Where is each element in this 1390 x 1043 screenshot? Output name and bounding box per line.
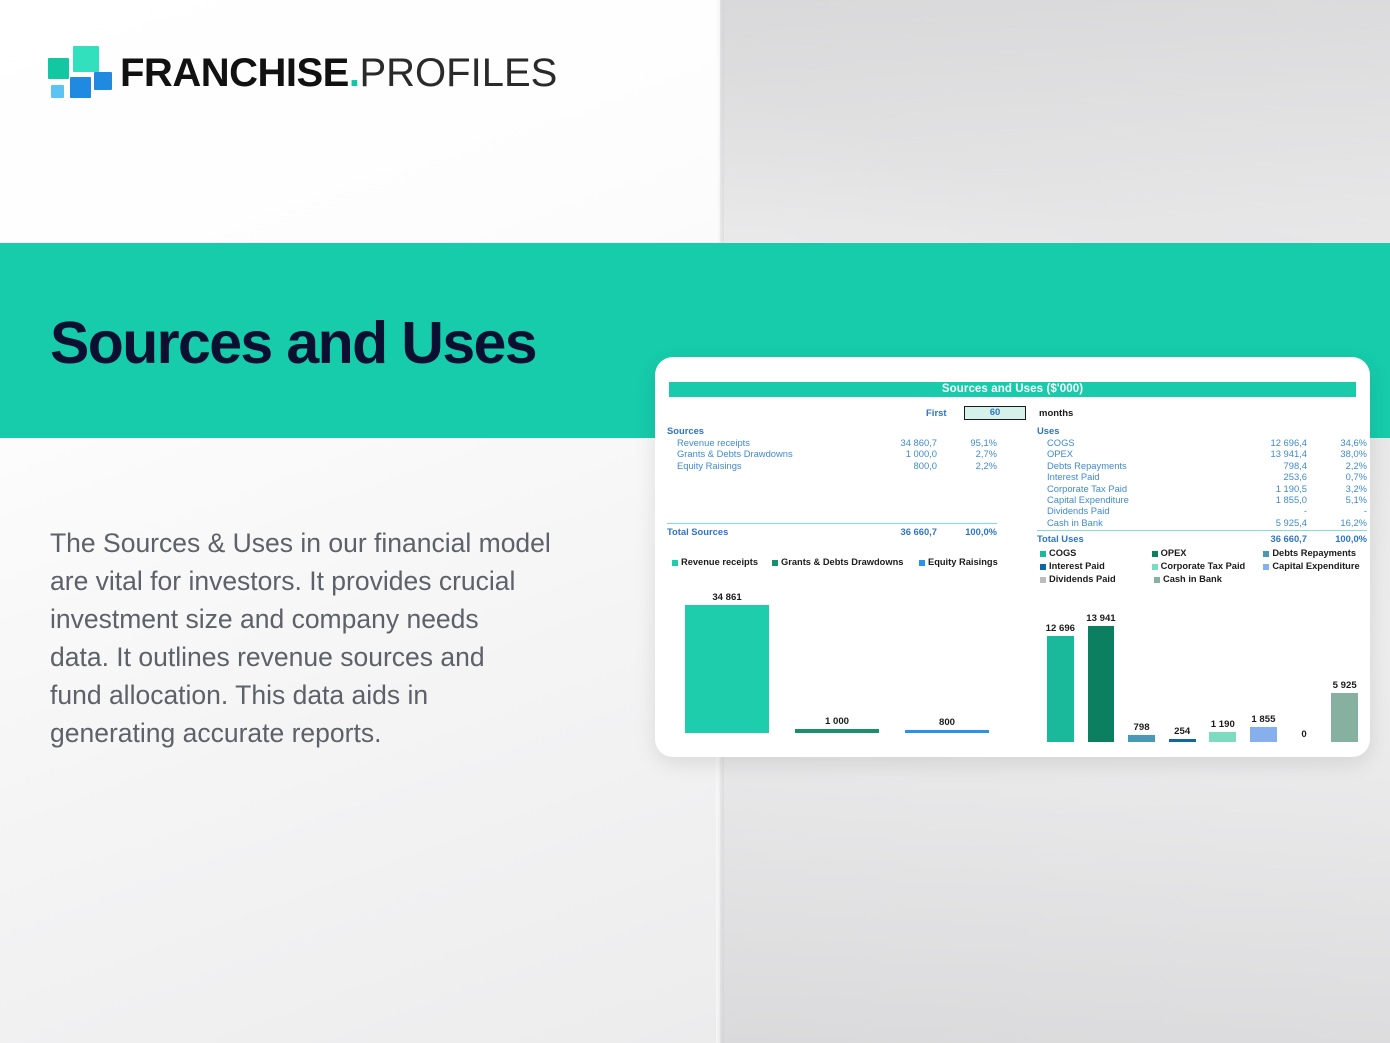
- logo-squares-icon: [48, 46, 106, 98]
- legend-label: Cash in Bank: [1163, 573, 1222, 586]
- sources-table-header: Sources: [667, 425, 997, 437]
- legend-item[interactable]: COGS: [1040, 547, 1152, 560]
- legend-item[interactable]: Equity Raisings: [919, 556, 998, 569]
- uses-row-name: Dividends Paid: [1037, 505, 1229, 516]
- legend-row: Revenue receiptsGrants & Debts Drawdowns…: [672, 556, 1012, 569]
- chart-bar-slot: 798: [1121, 592, 1162, 742]
- uses-row-name: COGS: [1037, 437, 1229, 448]
- sources-table: Sources Revenue receipts34 860,795,1%Gra…: [667, 425, 997, 538]
- uses-row-amount: 12 696,4: [1229, 437, 1307, 448]
- table-row: Equity Raisings800,02,2%: [667, 460, 997, 471]
- bar-value-label: 1 000: [825, 716, 849, 727]
- uses-row-amount: 798,4: [1229, 460, 1307, 471]
- legend-item[interactable]: Cash in Bank: [1154, 573, 1268, 586]
- body-paragraph: The Sources & Uses in our financial mode…: [50, 524, 620, 752]
- legend-swatch-icon: [1040, 577, 1046, 583]
- logo-square-lightblue-icon: [51, 85, 64, 98]
- chart-bar-slot: 0: [1284, 592, 1325, 742]
- sources-total-row: Total Sources 36 660,7 100,0%: [667, 523, 997, 538]
- legend-label: Debts Repayments: [1272, 547, 1356, 560]
- legend-label: OPEX: [1161, 547, 1187, 560]
- legend-swatch-icon: [1152, 564, 1158, 570]
- slide-root: FRANCHISE.PROFILES Sources and Uses The …: [0, 0, 1390, 1043]
- chart-bar-slot: 12 696: [1040, 592, 1081, 742]
- brand-wordmark: FRANCHISE.PROFILES: [120, 44, 557, 102]
- chart-bar[interactable]: [1250, 727, 1277, 742]
- bar-value-label: 0: [1301, 729, 1306, 740]
- logo-square-blue-small-icon: [94, 72, 112, 90]
- chart-bar-slot: 800: [892, 583, 1002, 733]
- uses-row-amount: -: [1229, 505, 1307, 516]
- table-row: Interest Paid253,60,7%: [1037, 471, 1367, 482]
- sources-row-percent: 2,7%: [937, 448, 997, 459]
- legend-item[interactable]: Revenue receipts: [672, 556, 772, 569]
- legend-swatch-icon: [1263, 551, 1269, 557]
- table-row: Grants & Debts Drawdowns1 000,02,7%: [667, 448, 997, 459]
- brand-name-bold: FRANCHISE: [120, 51, 349, 95]
- uses-chart-legend: COGSOPEXDebts RepaymentsInterest PaidCor…: [1040, 547, 1375, 586]
- legend-item[interactable]: Grants & Debts Drawdowns: [772, 556, 919, 569]
- chart-bar-slot: 34 861: [672, 583, 782, 733]
- uses-row-amount: 1 855,0: [1229, 494, 1307, 505]
- uses-row-percent: 38,0%: [1307, 448, 1367, 459]
- sources-row-amount: 34 860,7: [859, 437, 937, 448]
- sources-row-percent: 2,2%: [937, 460, 997, 471]
- uses-total-row: Total Uses 36 660,7 100,0%: [1037, 530, 1367, 545]
- table-row: Cash in Bank5 925,416,2%: [1037, 517, 1367, 528]
- chart-bar-slot: 13 941: [1081, 592, 1122, 742]
- sources-total-label: Total Sources: [667, 525, 859, 538]
- chart-bar-slot: 254: [1162, 592, 1203, 742]
- chart-bar[interactable]: [1209, 732, 1236, 742]
- legend-item[interactable]: OPEX: [1152, 547, 1264, 560]
- uses-row-name: Debts Repayments: [1037, 460, 1229, 471]
- legend-swatch-icon: [1152, 551, 1158, 557]
- logo-square-mint-icon: [73, 46, 99, 72]
- sources-row-percent: 95,1%: [937, 437, 997, 448]
- period-months-input[interactable]: 60: [964, 406, 1026, 420]
- uses-row-percent: 16,2%: [1307, 517, 1367, 528]
- sources-total-percent: 100,0%: [937, 525, 997, 538]
- bar-value-label: 800: [939, 717, 955, 728]
- legend-label: Interest Paid: [1049, 560, 1105, 573]
- uses-row-amount: 253,6: [1229, 471, 1307, 482]
- uses-row-name: Corporate Tax Paid: [1037, 483, 1229, 494]
- bar-value-label: 1 855: [1251, 714, 1275, 725]
- uses-row-amount: 13 941,4: [1229, 448, 1307, 459]
- period-unit-label: months: [1039, 408, 1099, 419]
- uses-table-header: Uses: [1037, 425, 1367, 437]
- bar-value-label: 34 861: [712, 592, 741, 603]
- bar-value-label: 13 941: [1086, 613, 1115, 624]
- chart-bar[interactable]: [1088, 626, 1115, 742]
- bar-value-label: 12 696: [1046, 623, 1075, 634]
- uses-bar-chart: 12 69613 9417982541 1901 85505 925: [1040, 592, 1365, 742]
- table-row: COGS12 696,434,6%: [1037, 437, 1367, 448]
- uses-row-amount: 1 190,5: [1229, 483, 1307, 494]
- legend-item[interactable]: Capital Expenditure: [1263, 560, 1375, 573]
- brand-name-light: PROFILES: [359, 51, 557, 95]
- uses-row-name: Capital Expenditure: [1037, 494, 1229, 505]
- legend-swatch-icon: [772, 560, 778, 566]
- legend-label: Grants & Debts Drawdowns: [781, 556, 903, 569]
- uses-row-amount: 5 925,4: [1229, 517, 1307, 528]
- legend-item[interactable]: Debts Repayments: [1263, 547, 1375, 560]
- table-row: Corporate Tax Paid1 190,53,2%: [1037, 483, 1367, 494]
- logo-square-teal-icon: [48, 58, 69, 79]
- legend-label: Equity Raisings: [928, 556, 998, 569]
- legend-item[interactable]: Dividends Paid: [1040, 573, 1154, 586]
- legend-label: Dividends Paid: [1049, 573, 1116, 586]
- period-label: First: [926, 408, 964, 419]
- uses-row-percent: 3,2%: [1307, 483, 1367, 494]
- chart-bar[interactable]: [1169, 739, 1196, 742]
- page-title: Sources and Uses: [50, 305, 536, 381]
- legend-row: COGSOPEXDebts Repayments: [1040, 547, 1375, 560]
- table-row: Dividends Paid--: [1037, 505, 1367, 516]
- chart-bar[interactable]: [1331, 693, 1358, 742]
- uses-row-percent: 5,1%: [1307, 494, 1367, 505]
- legend-label: COGS: [1049, 547, 1076, 560]
- bar-value-label: 798: [1134, 722, 1150, 733]
- table-row: Capital Expenditure1 855,05,1%: [1037, 494, 1367, 505]
- legend-item[interactable]: Interest Paid: [1040, 560, 1152, 573]
- uses-total-amount: 36 660,7: [1229, 532, 1307, 545]
- uses-total-label: Total Uses: [1037, 532, 1229, 545]
- legend-swatch-icon: [1263, 564, 1269, 570]
- legend-label: Revenue receipts: [681, 556, 758, 569]
- uses-row-name: Cash in Bank: [1037, 517, 1229, 528]
- legend-label: Capital Expenditure: [1272, 560, 1359, 573]
- period-selector-row: First 60 months: [669, 405, 1356, 421]
- sources-chart-legend: Revenue receiptsGrants & Debts Drawdowns…: [672, 556, 1012, 569]
- chart-bar[interactable]: [685, 605, 769, 733]
- chart-bar[interactable]: [1128, 735, 1155, 742]
- brand-logo: FRANCHISE.PROFILES: [48, 44, 548, 104]
- uses-row-name: OPEX: [1037, 448, 1229, 459]
- legend-row: Dividends PaidCash in Bank: [1040, 573, 1375, 586]
- legend-item[interactable]: Corporate Tax Paid: [1152, 560, 1264, 573]
- background-panel-left: [0, 0, 720, 1043]
- sources-row-name: Revenue receipts: [667, 437, 859, 448]
- bar-value-label: 5 925: [1333, 680, 1357, 691]
- chart-bar-slot: 1 190: [1203, 592, 1244, 742]
- brand-name-dot: .: [349, 51, 360, 95]
- legend-swatch-icon: [1154, 577, 1160, 583]
- legend-swatch-icon: [672, 560, 678, 566]
- sources-row-amount: 800,0: [859, 460, 937, 471]
- chart-bar[interactable]: [1047, 636, 1074, 742]
- sources-row-name: Grants & Debts Drawdowns: [667, 448, 859, 459]
- bar-value-label: 1 190: [1211, 719, 1235, 730]
- chart-bar-slot: 1 000: [782, 583, 892, 733]
- sheet-title: Sources and Uses ($'000): [669, 382, 1356, 397]
- uses-row-percent: 2,2%: [1307, 460, 1367, 471]
- legend-label: Corporate Tax Paid: [1161, 560, 1246, 573]
- sources-bar-chart: 34 8611 000800: [672, 583, 1002, 733]
- legend-swatch-icon: [1040, 551, 1046, 557]
- table-row: Debts Repayments798,42,2%: [1037, 460, 1367, 471]
- chart-bar[interactable]: [905, 730, 989, 733]
- legend-swatch-icon: [919, 560, 925, 566]
- uses-table: Uses COGS12 696,434,6%OPEX13 941,438,0%D…: [1037, 425, 1367, 545]
- uses-row-percent: 34,6%: [1307, 437, 1367, 448]
- sources-row-amount: 1 000,0: [859, 448, 937, 459]
- table-row: OPEX13 941,438,0%: [1037, 448, 1367, 459]
- uses-row-percent: -: [1307, 505, 1367, 516]
- legend-row: Interest PaidCorporate Tax PaidCapital E…: [1040, 560, 1375, 573]
- chart-bar-slot: 5 925: [1324, 592, 1365, 742]
- uses-row-name: Interest Paid: [1037, 471, 1229, 482]
- uses-row-percent: 0,7%: [1307, 471, 1367, 482]
- uses-total-percent: 100,0%: [1307, 532, 1367, 545]
- chart-bar[interactable]: [795, 729, 879, 733]
- sources-row-name: Equity Raisings: [667, 460, 859, 471]
- chart-bar-slot: 1 855: [1243, 592, 1284, 742]
- sources-total-amount: 36 660,7: [859, 525, 937, 538]
- bar-value-label: 254: [1174, 726, 1190, 737]
- legend-swatch-icon: [1040, 564, 1046, 570]
- table-row: Revenue receipts34 860,795,1%: [667, 437, 997, 448]
- logo-square-blue-icon: [70, 77, 91, 98]
